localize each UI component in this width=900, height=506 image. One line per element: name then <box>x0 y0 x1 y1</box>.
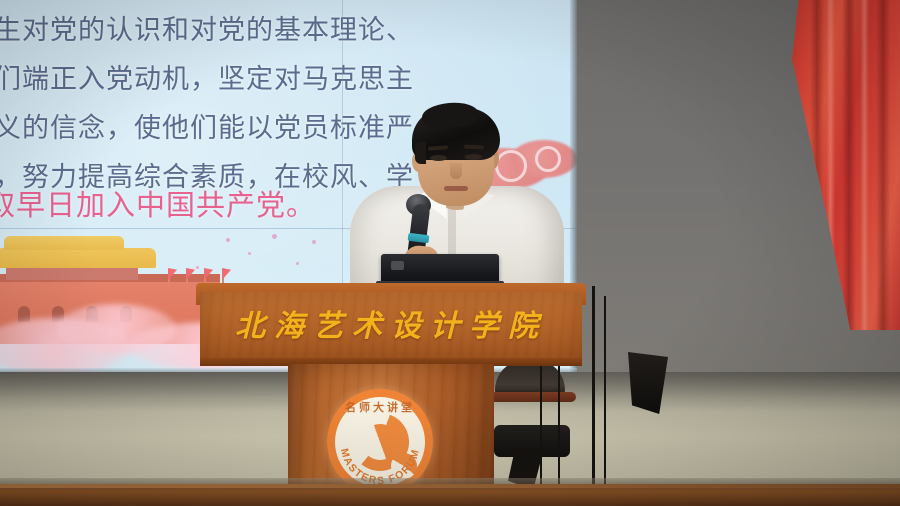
confetti-dot <box>296 262 299 265</box>
eye-left <box>430 155 447 161</box>
confetti-dot <box>248 252 251 255</box>
lecture-hall-photo: 生对党的认识和对党的基本理论、 们端正入党动机，坚定对马克思主 义的信念，使他们… <box>0 0 900 506</box>
sideburn <box>415 142 426 164</box>
slide-accent-line: 取早日加入中国共产党。 <box>0 185 316 225</box>
curtain-highlight <box>860 0 869 330</box>
cable <box>592 286 595 486</box>
eye-right <box>465 154 482 160</box>
confetti-dot <box>312 240 316 244</box>
laptop-lid[interactable] <box>381 254 499 284</box>
podium-institution-name: 北海艺术设计学院 <box>200 296 582 350</box>
mouth <box>444 186 468 191</box>
gate-roof-upper <box>4 236 124 250</box>
cable <box>540 360 542 486</box>
red-flag <box>222 268 231 280</box>
gate-roof-lower <box>0 248 156 268</box>
nose <box>450 163 462 179</box>
confetti-dot <box>196 266 199 269</box>
slide-line-1: 生对党的认识和对党的基本理论、 <box>0 6 424 55</box>
curtain-fold <box>876 0 890 330</box>
cable <box>558 358 560 488</box>
confetti-dot <box>226 238 230 242</box>
curtain-fold <box>842 0 856 330</box>
cable <box>604 296 606 486</box>
baseboard-highlight <box>0 484 900 488</box>
laptop-logo <box>391 261 404 270</box>
slide-line-2: 们端正入党动机，坚定对马克思主 <box>0 55 424 104</box>
confetti-dot <box>272 234 277 239</box>
chair-armrest <box>488 392 576 402</box>
